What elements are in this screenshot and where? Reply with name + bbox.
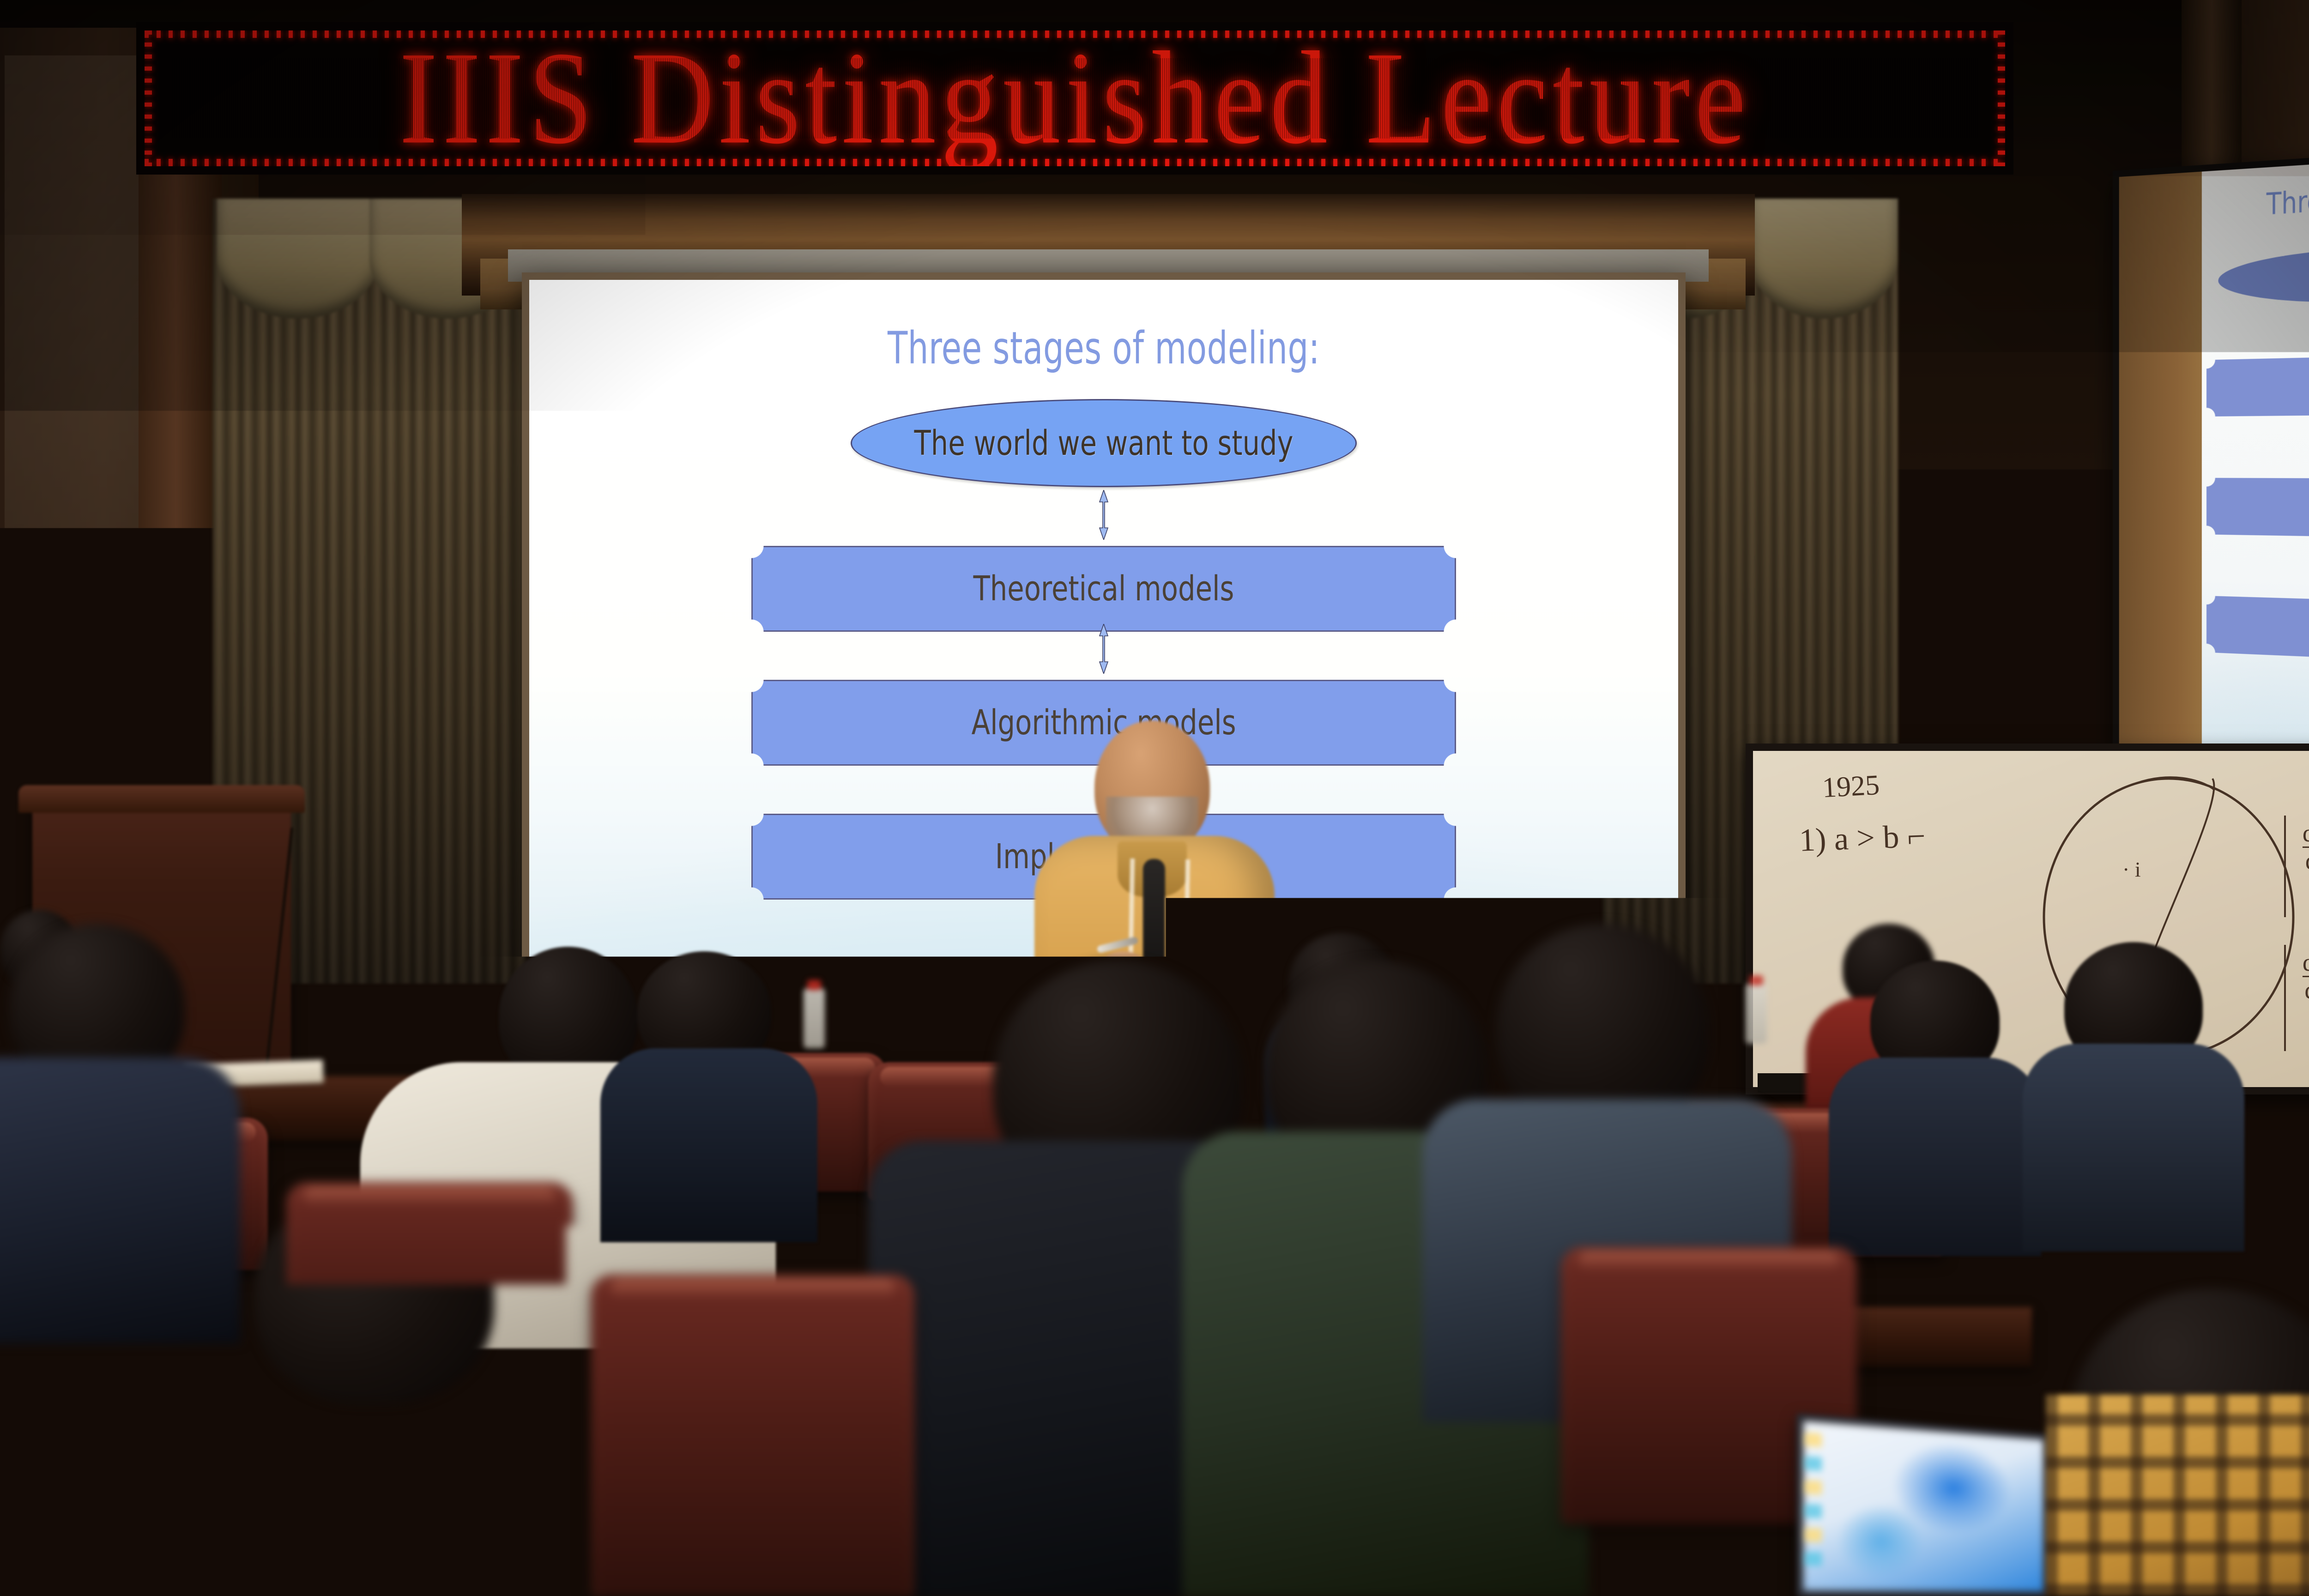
curtain-swag-right-b [1750,199,1898,319]
lecture-hall-scene: IIIS Distinguished Lecture Three stages … [0,0,2309,1596]
whiteboard-note-inequality: 1) a > b ⌐ [1799,818,1926,859]
double-headed-arrow-icon-2 [1099,624,1109,674]
audience-body [1829,1058,2041,1256]
led-banner-text: IIIS Distinguished Lecture [399,32,1750,165]
side-monitor-box-1: Th [2206,353,2309,417]
side-monitor-title: Three [2267,182,2309,222]
slide-ellipse-world: The world we want to study [851,399,1357,487]
laptop-screen[interactable] [1803,1421,2043,1591]
side-monitor: Three The wo Th Al Impl [2113,151,2309,773]
water-bottle-left [804,988,825,1048]
slide-ellipse-label: The world we want to study [914,423,1293,463]
whiteboard-derivative-2-numerator: de [2303,949,2309,976]
laptop[interactable] [1796,1413,2049,1596]
side-monitor-bezel-shade [2119,172,2202,752]
auditorium-seat [591,1275,914,1596]
led-banner: IIIS Distinguished Lecture [136,22,2013,175]
side-monitor-ellipse: The wo [2218,241,2309,307]
laptop-lid [1796,1413,2049,1596]
auditorium-seat [286,1182,573,1413]
side-monitor-box-3: Impl [2206,596,2309,665]
slide-box-theoretical: Theoretical models [751,546,1456,632]
whiteboard-derivative-1-numerator: dg [2303,820,2309,846]
podium-top [18,785,305,813]
double-headed-arrow-icon-1 [1099,490,1109,540]
whiteboard-derivative-1: dg dt [2303,820,2309,874]
side-monitor-box-2: Al [2206,478,2309,539]
laptop-dock-icons[interactable] [1804,1432,1822,1570]
led-banner-inner: IIIS Distinguished Lecture [158,44,1991,152]
auditorium-seat [0,1302,240,1596]
side-monitor-slide: Three The wo Th Al Impl [2119,158,2309,766]
audience-plaid-shirt [2046,1395,2309,1596]
slide-title: Three stages of modeling: [633,322,1575,374]
audience-body [2023,1044,2244,1251]
whiteboard-note-year: 1925 [1821,769,1880,804]
slide-box-label-theoretical: Theoretical models [973,569,1234,609]
whiteboard-divider-1 [2284,816,2286,917]
water-bottle-right [1746,984,1767,1044]
whiteboard-derivative-2-denominator: dt [2303,976,2309,1004]
whiteboard-derivative-1-denominator: dt [2303,846,2309,874]
whiteboard-divider-2 [2284,945,2286,1051]
whiteboard-point-label-i: · i [2122,857,2141,882]
whiteboard-derivative-2: de dt [2303,949,2309,1003]
curtain-swag-left-a [217,199,379,319]
left-wall-panel [5,55,143,840]
audience-body [600,1048,817,1242]
audience-body [0,1058,240,1344]
